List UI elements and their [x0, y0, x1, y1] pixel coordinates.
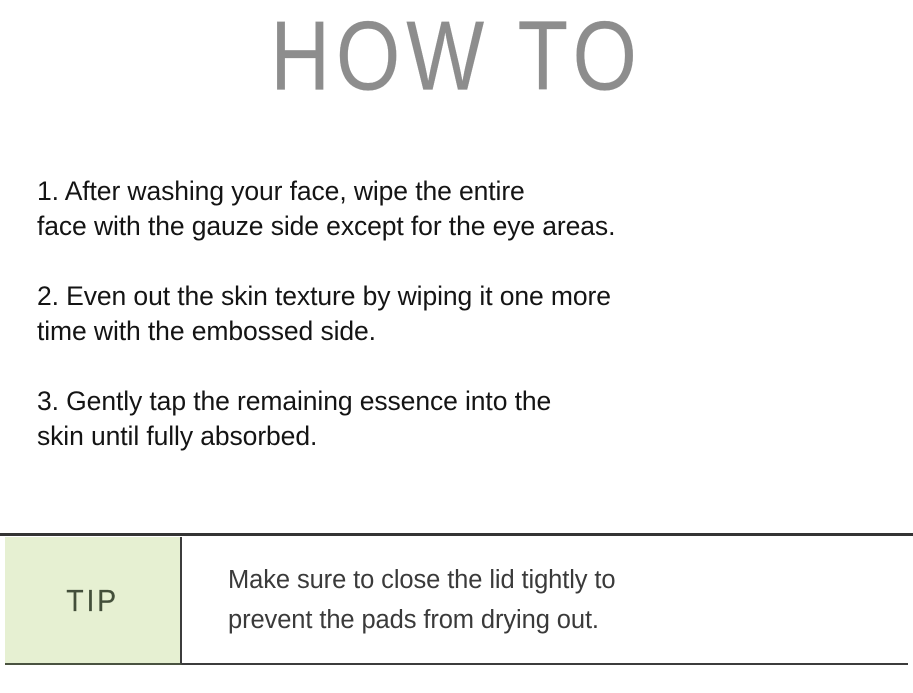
- instruction-step-3: 3. Gently tap the remaining essence into…: [37, 384, 837, 453]
- tip-body-text: Make sure to close the lid tightly to pr…: [182, 560, 636, 640]
- tip-body-cell: Make sure to close the lid tightly to pr…: [182, 537, 908, 665]
- tip-section: TIP Make sure to close the lid tightly t…: [5, 537, 908, 665]
- tip-label-cell: TIP: [5, 537, 182, 665]
- instruction-step-1: 1. After washing your face, wipe the ent…: [37, 174, 837, 243]
- how-to-card: HOW TO 1. After washing your face, wipe …: [0, 0, 913, 693]
- tip-top-divider: [0, 533, 913, 536]
- page-title-text: HOW TO: [270, 6, 642, 108]
- instruction-step-2: 2. Even out the skin texture by wiping i…: [37, 279, 837, 348]
- instruction-steps: 1. After washing your face, wipe the ent…: [37, 174, 837, 453]
- tip-label: TIP: [66, 585, 119, 616]
- page-title: HOW TO: [0, 6, 913, 106]
